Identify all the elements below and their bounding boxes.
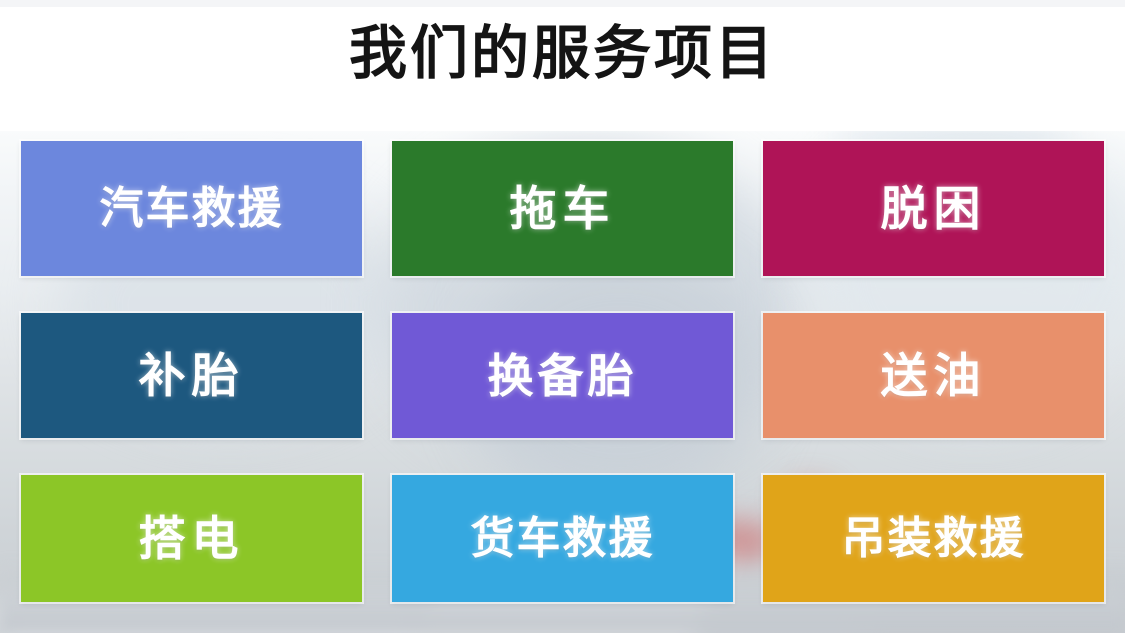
service-tile-label: 补胎: [139, 352, 245, 399]
service-tile-truck-rescue[interactable]: 货车救援: [392, 475, 733, 602]
service-grid: 汽车救援拖车脱困补胎换备胎送油搭电货车救援吊装救援: [21, 141, 1104, 601]
service-tile-towing[interactable]: 拖车: [392, 141, 733, 276]
service-tile-spare-tire-change[interactable]: 换备胎: [392, 313, 733, 438]
top-hairline: [0, 0, 1125, 7]
service-tile-label: 送油: [881, 352, 987, 399]
service-poster: 我们的服务项目 汽车救援拖车脱困补胎换备胎送油搭电货车救援吊装救援: [0, 0, 1125, 633]
service-tile-label: 吊装救援: [842, 517, 1026, 561]
service-tile-tire-repair[interactable]: 补胎: [21, 313, 362, 438]
service-tile-label: 脱困: [881, 185, 987, 232]
service-tile-label: 货车救援: [471, 517, 655, 561]
service-tile-car-rescue[interactable]: 汽车救援: [21, 141, 362, 276]
title-band-fade: [0, 112, 1125, 134]
service-tile-jump-start[interactable]: 搭电: [21, 475, 362, 602]
service-tile-label: 拖车: [510, 185, 616, 232]
service-tile-label: 搭电: [139, 515, 245, 562]
service-tile-crane-lifting-rescue[interactable]: 吊装救援: [763, 475, 1104, 602]
service-tile-fuel-delivery[interactable]: 送油: [763, 313, 1104, 438]
service-tile-label: 汽车救援: [100, 187, 284, 231]
title-band: 我们的服务项目: [0, 0, 1125, 131]
page-title: 我们的服务项目: [0, 22, 1125, 87]
service-tile-label: 换备胎: [488, 353, 638, 399]
service-tile-extrication[interactable]: 脱困: [763, 141, 1104, 276]
